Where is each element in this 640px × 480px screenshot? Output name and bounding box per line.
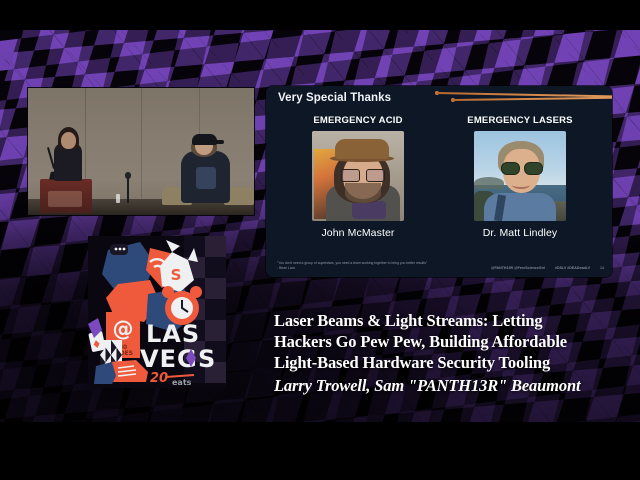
talk-title-line-3: Light-Based Hardware Security Tooling xyxy=(274,352,630,373)
water-bottle xyxy=(116,194,120,203)
svg-text:LAS: LAS xyxy=(146,320,200,348)
svg-text:eats: eats xyxy=(172,378,192,387)
svg-text:20: 20 xyxy=(150,371,168,386)
speaker-right-shirt-graphic xyxy=(196,167,216,189)
stage-camera-feed xyxy=(28,88,254,215)
slide-heading: Very Special Thanks xyxy=(278,92,391,104)
slide-footer-hashtag: #DSLV #DEADeadLV xyxy=(555,266,590,270)
podium xyxy=(40,179,92,213)
portrait-name-matt: Dr. Matt Lindley xyxy=(454,227,586,239)
talk-speakers: Larry Trowell, Sam "PANTH13R" Beaumont xyxy=(274,375,630,396)
portrait-beard xyxy=(345,183,381,203)
portrait-shirt-print xyxy=(352,201,386,219)
talk-title-line-1: Laser Beams & Light Streams: Letting xyxy=(274,310,630,331)
portrait-matt-lindley xyxy=(474,131,566,221)
thanks-column-lasers: EMERGENCY LASERS Dr. Matt Lindley xyxy=(454,115,586,239)
speaker-left-head xyxy=(61,132,76,149)
portrait-sunglasses xyxy=(501,162,543,173)
video-frame: Very Special Thanks EMERGENCY ACID xyxy=(0,0,640,480)
talk-title-line-2: Hackers Go Pew Pew, Building Affordable xyxy=(274,331,630,352)
slide-footer-quote: "You don't need a group of superstars, y… xyxy=(277,261,429,271)
letterbox-bottom xyxy=(0,422,640,480)
defcon-las-vegas-logo: S @ 80 SIDES xyxy=(88,236,226,388)
presentation-slide: Very Special Thanks EMERGENCY ACID xyxy=(266,86,612,277)
svg-text:S: S xyxy=(171,266,182,284)
slide-footer-handles: @PANTH13R @FreeScienceGirl xyxy=(491,266,545,270)
slide-footer-meta: @PANTH13R @FreeScienceGirl #DSLV #DEADea… xyxy=(491,266,604,270)
svg-text:S: S xyxy=(198,345,215,373)
floor-microphone xyxy=(127,177,129,203)
column-heading-acid: EMERGENCY ACID xyxy=(292,115,424,126)
letterbox-top xyxy=(0,0,640,30)
slide-page-number: 14 xyxy=(600,266,604,270)
laser-beam-2 xyxy=(452,97,612,101)
talk-title-block: Laser Beams & Light Streams: Letting Hac… xyxy=(274,310,630,396)
svg-text:@: @ xyxy=(113,317,134,341)
thanks-columns: EMERGENCY ACID John McMaster EMERGENCY L… xyxy=(266,115,612,239)
portrait-smile xyxy=(512,181,530,189)
speaker-right-cap xyxy=(192,134,217,145)
portrait-name-john: John McMaster xyxy=(292,227,424,239)
portrait-john-mcmaster xyxy=(312,131,404,221)
portrait-hat xyxy=(335,139,389,159)
thanks-column-acid: EMERGENCY ACID John McMaster xyxy=(292,115,424,239)
portrait-hill xyxy=(474,177,504,189)
portrait-glasses xyxy=(341,169,385,180)
column-heading-lasers: EMERGENCY LASERS xyxy=(454,115,586,126)
